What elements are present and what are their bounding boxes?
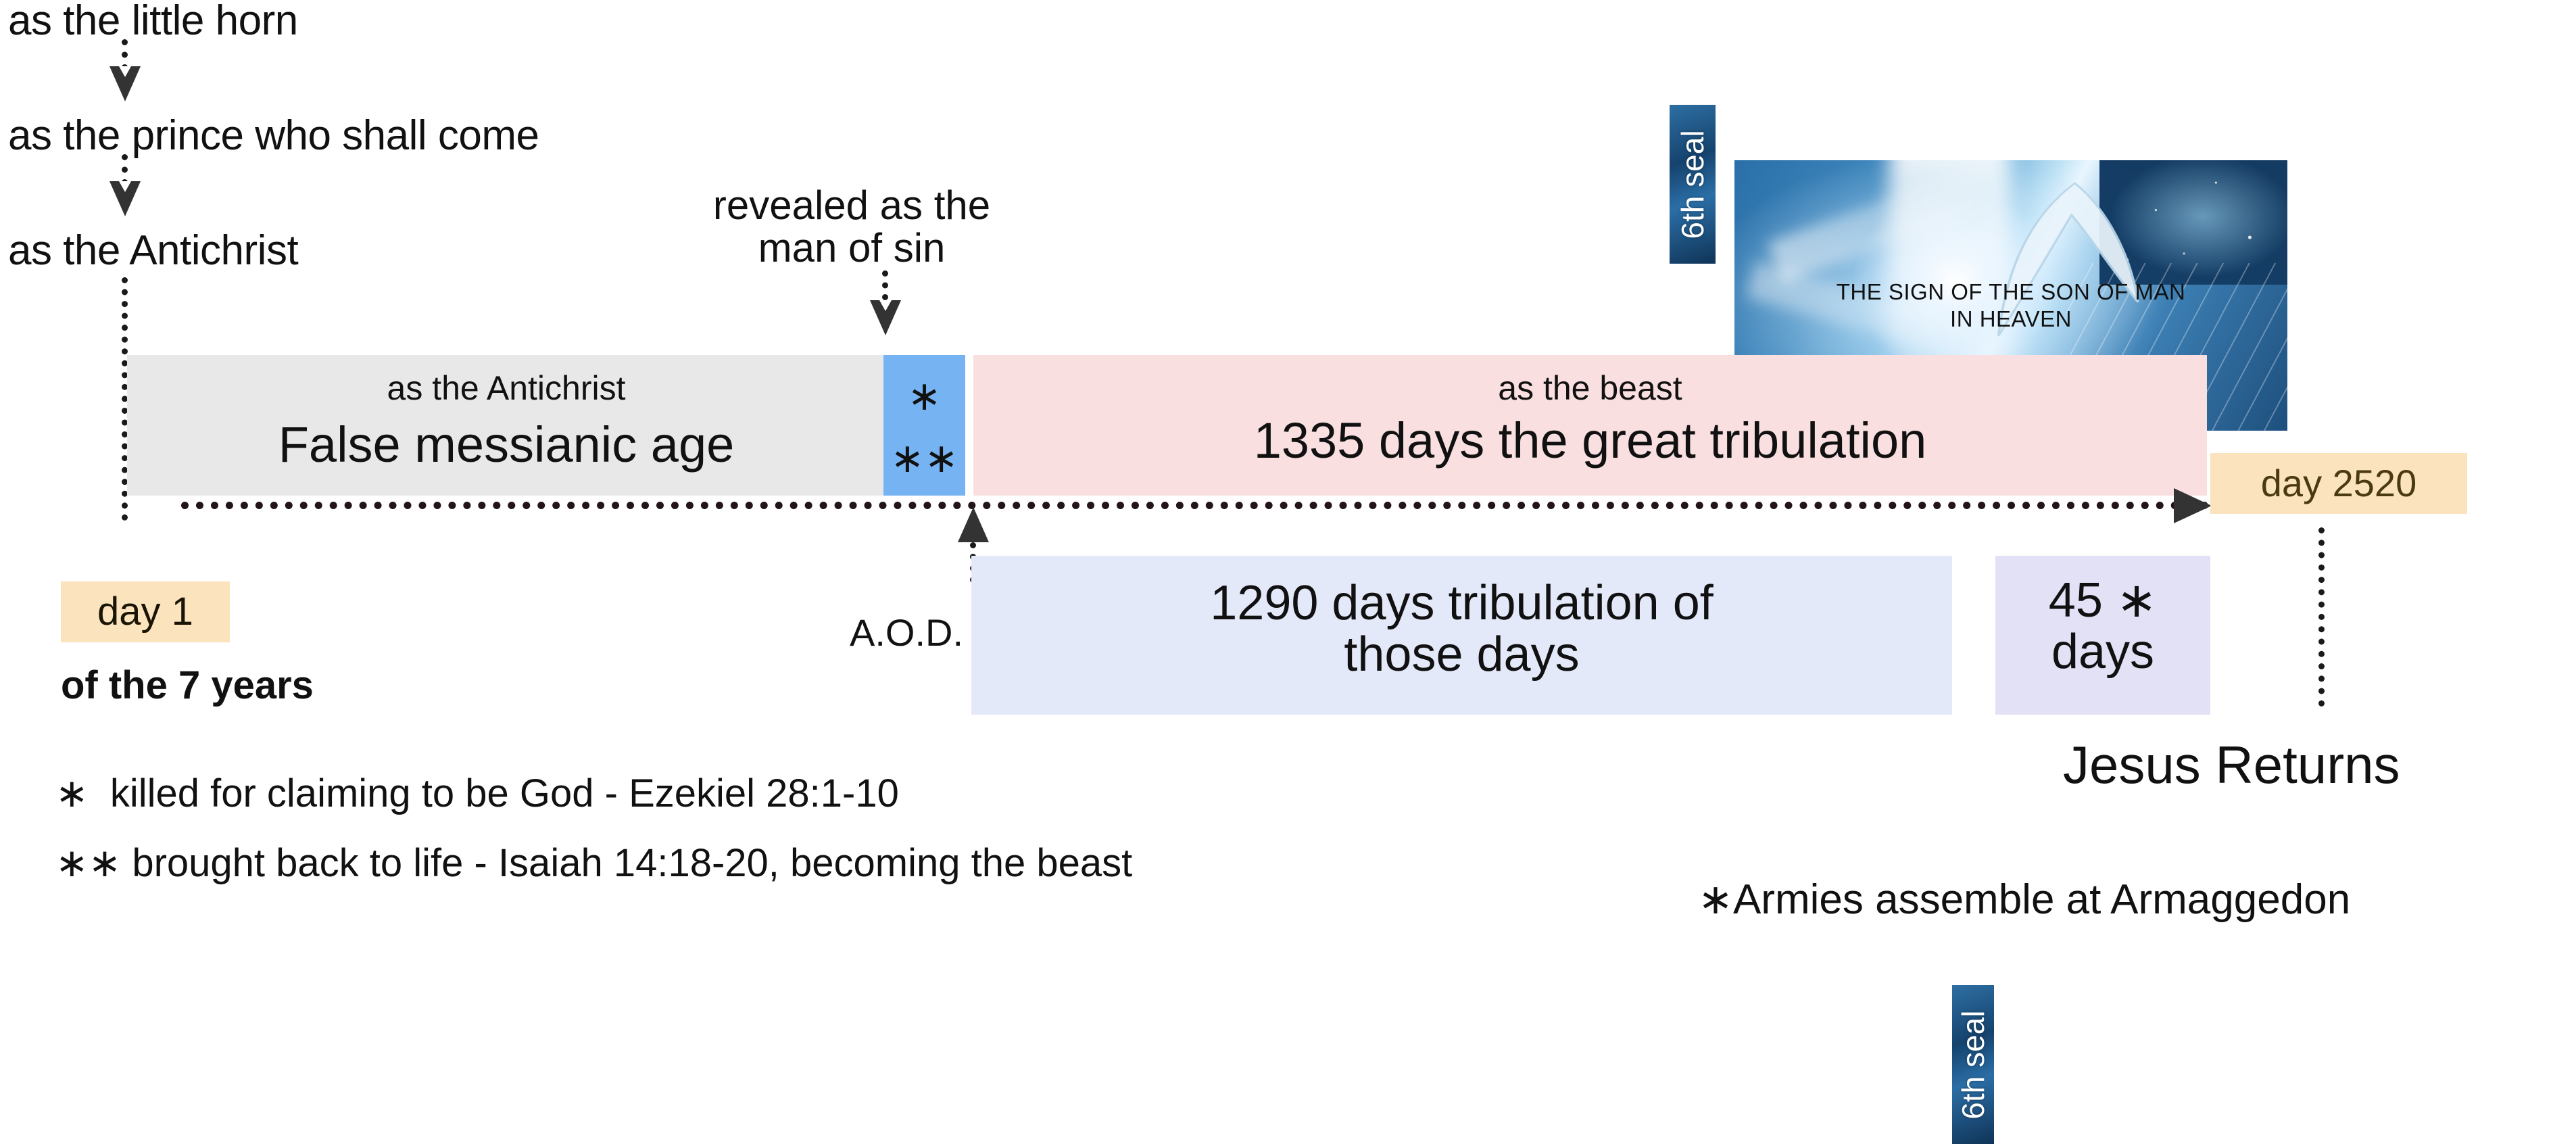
- chip-day-2520: day 2520: [2210, 453, 2467, 514]
- footnote-2-text: brought back to life - Isaiah 14:18-20, …: [121, 844, 1132, 883]
- callout-revealed-line1: revealed as the: [662, 184, 1041, 227]
- bar-segment-1290-days: 1290 days tribulation of those days: [971, 556, 1952, 715]
- picture-caption-line2: IN HEAVEN: [1734, 306, 2287, 333]
- marker-single-asterisk: ∗: [907, 373, 941, 420]
- picture-caption: THE SIGN OF THE SON OF MAN IN HEAVEN: [1734, 279, 2287, 333]
- title-little-horn: as the little horn: [8, 0, 298, 42]
- pink-bar-caption-big: 1335 days the great tribulation: [973, 416, 2207, 466]
- tail-bar-line1: 45 ∗: [1995, 575, 2210, 626]
- bar-segment-death-resurrection-marker: ∗ ∗∗: [883, 355, 965, 496]
- footnote-row-1: ∗ killed for claiming to be God - Ezekie…: [55, 774, 899, 813]
- seal-strip-top: 6th seal: [1670, 105, 1716, 264]
- callout-revealed-as-man-of-sin: revealed as the man of sin: [662, 184, 1041, 269]
- callout-revealed-connector: [882, 270, 888, 300]
- arrow-down-icon-2: [110, 181, 141, 216]
- lav-bar-line1: 1290 days tribulation of: [971, 577, 1952, 629]
- callout-revealed-line2: man of sin: [662, 227, 1041, 269]
- armageddon-marker: ∗: [1698, 879, 1733, 921]
- bar-segment-45-days: 45 ∗ days: [1995, 556, 2210, 715]
- armageddon-text: Armies assemble at Armaggedon: [1733, 879, 2350, 921]
- arrow-down-icon-revealed: [870, 300, 901, 335]
- tail-bar-line2: days: [1995, 626, 2210, 677]
- bar-segment-false-messianic-age: as the Antichrist False messianic age: [127, 355, 885, 496]
- seal-strip-top-label: 6th seal: [1677, 130, 1708, 239]
- arrow-right-icon-timeline-end: [2174, 488, 2212, 523]
- label-of-the-7-years: of the 7 years: [61, 666, 314, 705]
- picture-caption-line1: THE SIGN OF THE SON OF MAN: [1734, 279, 2287, 306]
- chip-day-1: day 1: [61, 581, 230, 642]
- gray-bar-caption-small: as the Antichrist: [127, 371, 885, 405]
- seal-strip-bottom-label: 6th seal: [1958, 1010, 1989, 1119]
- arrow-down-icon-1: [110, 66, 141, 101]
- marker-double-asterisk: ∗∗: [890, 435, 958, 482]
- label-jesus-returns: Jesus Returns: [2063, 738, 2400, 791]
- timeline-dotted-axis: [181, 502, 2209, 509]
- armageddon-note: ∗ Armies assemble at Armaggedon: [1698, 879, 2350, 921]
- title-prince-who-shall-come: as the prince who shall come: [8, 115, 539, 157]
- footnote-2-marker: ∗∗: [55, 844, 121, 883]
- jesus-returns-connector-dots: [2318, 527, 2325, 707]
- seal-strip-bottom: 6th seal: [1952, 985, 1994, 1144]
- title-antichrist: as the Antichrist: [8, 230, 298, 272]
- arrow-up-icon-aod: [958, 507, 989, 542]
- bar-segment-great-tribulation: as the beast 1335 days the great tribula…: [973, 355, 2207, 496]
- lav-bar-line2: those days: [971, 629, 1952, 680]
- footnote-row-2: ∗∗ brought back to life - Isaiah 14:18-2…: [55, 844, 1132, 883]
- pink-bar-caption-small: as the beast: [973, 371, 2207, 405]
- footnote-1-text: killed for claiming to be God - Ezekiel …: [89, 774, 899, 813]
- footnote-1-marker: ∗: [55, 774, 89, 813]
- gray-bar-caption-big: False messianic age: [127, 420, 885, 470]
